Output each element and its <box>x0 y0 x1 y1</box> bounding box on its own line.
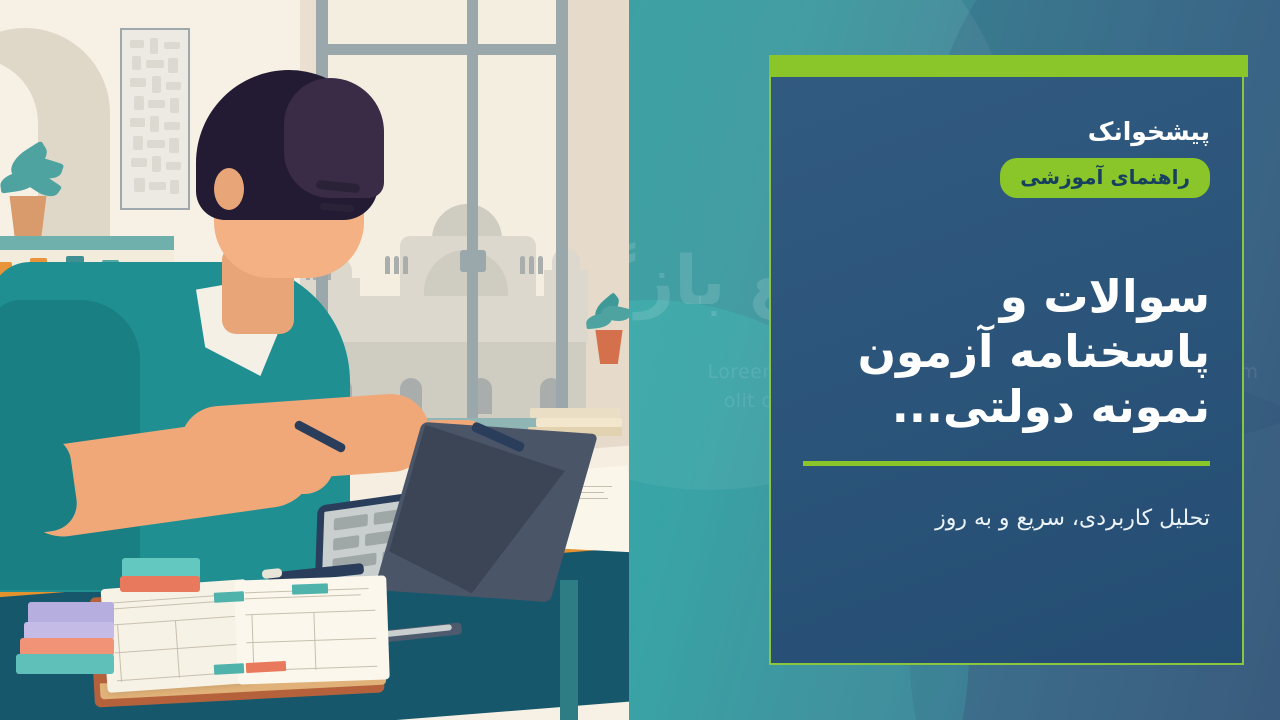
tablet-ui-block <box>334 514 368 531</box>
planner-bookmark <box>214 663 244 675</box>
title-line-2: پاسخنامه آزمون <box>803 325 1210 380</box>
building-window <box>529 256 534 274</box>
planner-bookmark <box>246 661 286 673</box>
stacked-book <box>536 418 622 427</box>
illustration-student-studying <box>0 0 629 720</box>
geometric-pattern <box>128 36 182 202</box>
right-panel: وراهنمای جامع بازگشت اجی TARCT HEAI VLLY… <box>629 0 1280 720</box>
building-window <box>403 256 408 274</box>
subtitle: تحلیل کاربردی، سریع و به روز <box>803 502 1210 535</box>
person-hair-highlight <box>284 78 384 198</box>
banner-stage: وراهنمای جامع بازگشت اجی TARCT HEAI VLLY… <box>0 0 1280 720</box>
person-ear <box>214 168 244 210</box>
planner-bookmark <box>292 583 328 594</box>
title-line-1: سوالات و <box>803 270 1210 325</box>
card-content: پیشخوانک راهنمای آموزشی سوالات و پاسخنام… <box>771 57 1242 663</box>
planner-bookmark <box>214 591 244 603</box>
window-mullion-vertical <box>467 0 478 430</box>
sticky-note-coral <box>120 576 200 592</box>
window-frame-right <box>556 0 568 430</box>
content-card: پیشخوانک راهنمای آموزشی سوالات و پاسخنام… <box>769 55 1244 665</box>
title-divider <box>803 461 1210 466</box>
building-window <box>385 256 390 274</box>
stacked-book <box>530 408 620 418</box>
window-latch <box>460 250 486 272</box>
brand-eyebrow: پیشخوانک <box>803 117 1210 146</box>
title-line-3: نمونه دولتی... <box>803 380 1210 435</box>
desk-leg <box>560 580 578 720</box>
sticky-note-teal-2 <box>16 654 114 674</box>
tablet-ui-block <box>333 535 359 551</box>
category-badge[interactable]: راهنمای آموزشی <box>1000 158 1210 198</box>
window-mullion-horizontal <box>316 44 568 55</box>
building-mid-band <box>300 296 586 348</box>
building-window <box>538 256 543 274</box>
building-window <box>520 256 525 274</box>
building-window <box>394 256 399 274</box>
framed-geometric-art <box>120 28 190 210</box>
page-title: سوالات و پاسخنامه آزمون نمونه دولتی... <box>803 198 1210 435</box>
